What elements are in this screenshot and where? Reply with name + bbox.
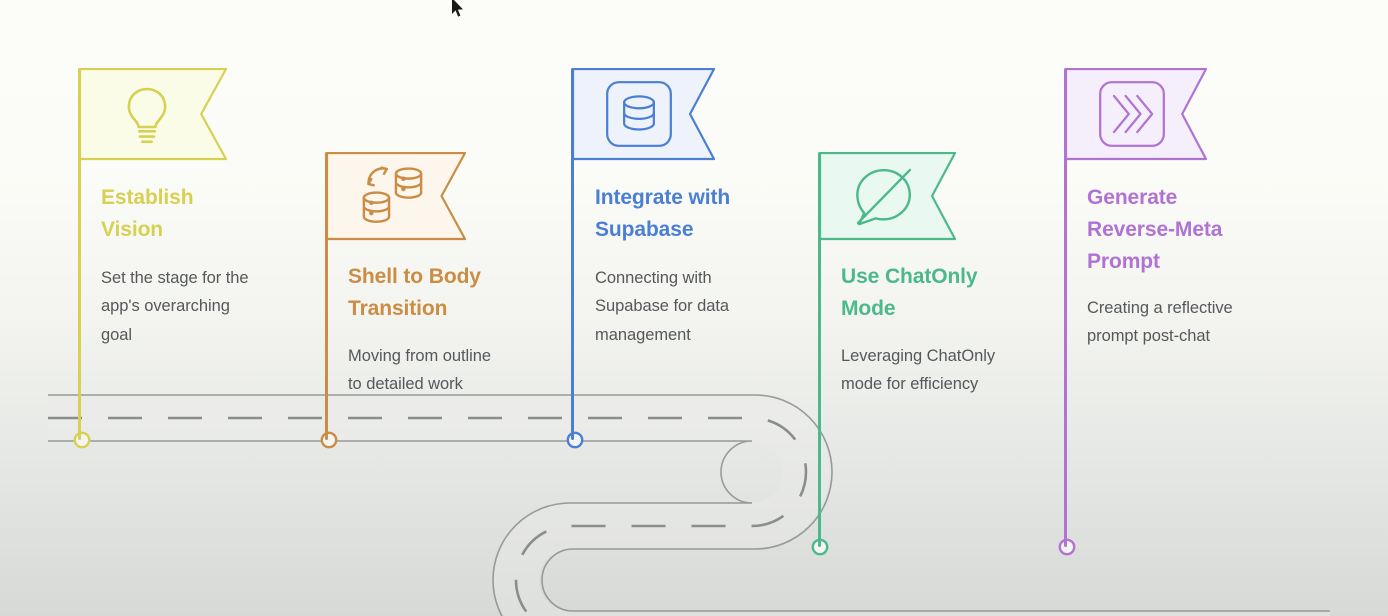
lightbulb-icon [112,79,182,149]
fast-forward-icon [1097,79,1167,149]
milestone-description: Connecting with Supabase for data manage… [595,264,795,349]
milestone-icon [1097,79,1167,154]
milestone-icon [850,163,919,235]
milestone-description: Set the stage for the app's overarching … [101,264,306,349]
milestone-flag[interactable] [80,68,228,162]
roadmap-diagram: Establish VisionSet the stage for the ap… [0,0,1388,616]
mouse-pointer-icon [451,0,465,18]
milestone-flag[interactable] [327,152,467,242]
database-icon [604,79,674,149]
milestone-description: Moving from outline to detailed work [348,342,548,399]
milestone-icon [112,79,182,154]
milestone-flag[interactable] [1066,68,1208,162]
milestone-description: Leveraging ChatOnly mode for efficiency [841,342,1046,399]
milestone-description: Creating a reflective prompt post-chat [1087,294,1287,351]
milestone-icon [604,79,674,154]
milestone-title: Shell to Body Transition [348,261,548,325]
milestone-marker-shell-to-body-transition[interactable] [322,433,336,447]
milestone-flag[interactable] [573,68,716,162]
milestone-title: Use ChatOnly Mode [841,261,1046,325]
milestone-marker-integrate-with-supabase[interactable] [568,433,582,447]
milestone-icon [357,163,428,235]
milestone-title: Establish Vision [101,182,306,246]
milestone-flag[interactable] [820,152,957,242]
milestone-marker-establish-vision[interactable] [75,433,89,447]
milestone-title: Integrate with Supabase [595,182,795,246]
data-transfer-icon [357,163,428,230]
milestone-title: Generate Reverse-Meta Prompt [1087,182,1287,278]
chat-disabled-icon [850,163,919,230]
milestone-marker-generate-reverse-meta-prompt[interactable] [1060,540,1074,554]
